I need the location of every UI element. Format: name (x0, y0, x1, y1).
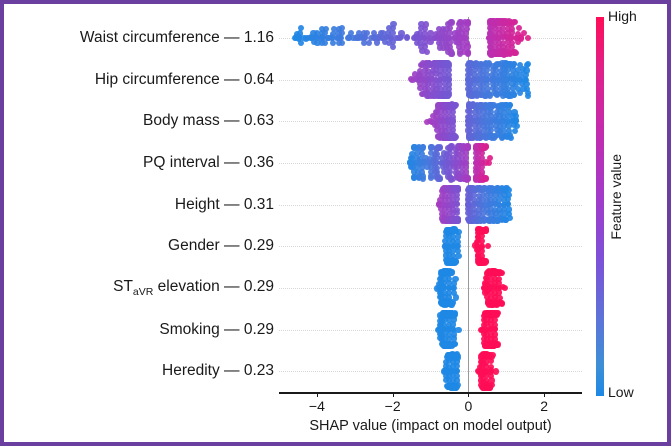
gridline (279, 288, 582, 290)
feature-label-height: Height — 0.31 (175, 196, 274, 214)
shap-point (483, 226, 489, 232)
shap-point (506, 192, 512, 198)
colorbar-title: Feature value (608, 154, 624, 240)
shap-point (465, 176, 471, 182)
gridline (279, 371, 582, 373)
colorbar-low-label: Low (608, 384, 634, 400)
gridline (279, 205, 582, 207)
x-tick-mark (393, 392, 394, 397)
shap-point (485, 243, 491, 249)
shap-point (508, 135, 514, 141)
shap-point (514, 123, 520, 129)
shap-point (298, 25, 304, 31)
shap-point (483, 176, 489, 182)
feature-label-st-avr-elevation: STaVR elevation — 0.29 (113, 278, 274, 298)
feature-label-hip-circumference: Hip circumference — 0.64 (95, 71, 274, 89)
x-tick-mark (468, 392, 469, 397)
shap-point (455, 382, 461, 388)
shap-point (449, 50, 455, 56)
shap-point (452, 276, 458, 282)
shap-point (420, 176, 426, 182)
shap-point (495, 310, 501, 316)
shap-point (452, 134, 458, 140)
shap-point (465, 144, 471, 150)
shap-point (455, 327, 461, 333)
shap-point (455, 253, 461, 259)
x-axis-spine (279, 392, 582, 394)
gridline (279, 246, 582, 248)
shap-point (489, 352, 495, 358)
shap-point (455, 218, 461, 224)
feature-label-waist-circumference: Waist circumference — 1.16 (80, 29, 274, 47)
shap-point (487, 155, 493, 161)
shap-point (493, 368, 499, 374)
shap-point (499, 270, 505, 276)
shap-point (452, 102, 458, 108)
shap-point (404, 35, 410, 41)
shap-point (437, 175, 443, 181)
x-tick-mark (317, 392, 318, 397)
shap-point (523, 67, 529, 73)
shap-point (525, 61, 531, 67)
gridline (279, 330, 582, 332)
shap-point (489, 382, 495, 388)
feature-label-pq-interval: PQ interval — 0.36 (143, 154, 274, 172)
shap-point (512, 19, 518, 25)
x-tick-label: −2 (385, 398, 401, 414)
shap-point (453, 294, 459, 300)
shap-point (323, 26, 329, 32)
shap-point (502, 285, 508, 291)
shap-point (423, 21, 429, 27)
shap-point (507, 102, 513, 108)
shap-point (390, 44, 396, 50)
shap-point (465, 51, 471, 57)
shap-point (449, 269, 455, 275)
shap-point (499, 301, 505, 307)
shap-point (455, 353, 461, 359)
x-tick-label: 2 (540, 398, 548, 414)
x-tick-mark (544, 392, 545, 397)
colorbar-high-label: High (608, 8, 637, 24)
shap-point (483, 144, 489, 150)
shap-point (420, 144, 426, 150)
shap-point (456, 229, 462, 235)
shap-point (507, 215, 513, 221)
shap-point (518, 35, 524, 41)
x-tick-label: −4 (309, 398, 325, 414)
feature-label-smoking: Smoking — 0.29 (159, 321, 274, 339)
feature-label-heredity: Heredity — 0.23 (162, 362, 274, 380)
feature-label-body-mass: Body mass — 0.63 (143, 112, 274, 130)
shap-point (496, 276, 502, 282)
plot-area (279, 17, 582, 392)
shap-point (452, 341, 458, 347)
shap-point (339, 40, 345, 46)
shap-point (525, 93, 531, 99)
shap-point (494, 341, 500, 347)
shap-point (449, 19, 455, 25)
shap-point (512, 50, 518, 56)
shap-point (483, 258, 489, 264)
feature-labels: Waist circumference — 1.16Hip circumfere… (12, 4, 274, 446)
shap-point (390, 21, 396, 27)
colorbar (596, 17, 604, 396)
x-tick-label: 0 (464, 398, 472, 414)
shap-summary-figure: −4−202 SHAP value (impact on model outpu… (0, 0, 671, 446)
shap-point (424, 49, 430, 55)
x-axis-label: SHAP value (impact on model output) (279, 418, 582, 434)
shap-point (339, 25, 345, 31)
feature-label-gender: Gender — 0.29 (168, 237, 274, 255)
shap-point (525, 35, 531, 41)
